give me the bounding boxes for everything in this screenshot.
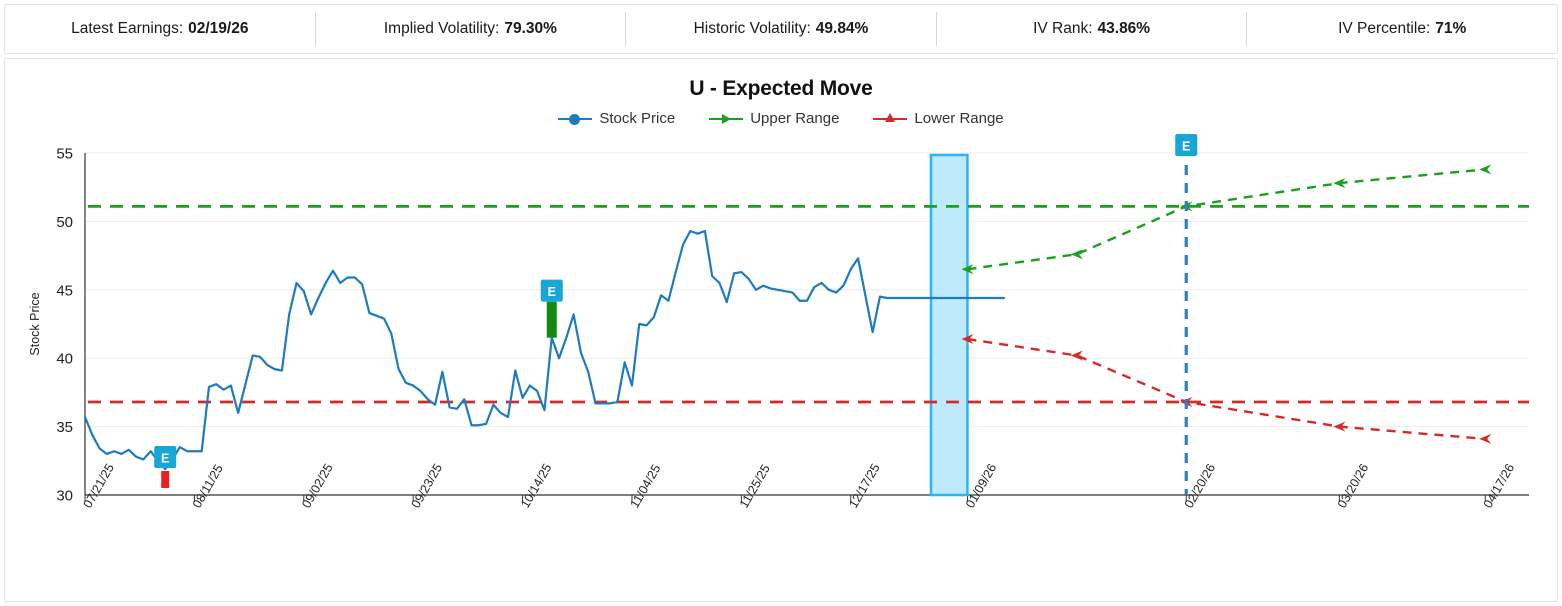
x-axis-label-9: 02/20/26 — [1182, 461, 1218, 510]
stat-implied-volatility: Implied Volatility: 79.30% — [316, 12, 627, 46]
x-axis-label-10: 03/20/26 — [1335, 461, 1371, 510]
stat-value: 79.30% — [504, 20, 557, 38]
x-axis-label-4: 10/14/25 — [518, 461, 554, 510]
earnings-marker-0[interactable]: E — [154, 446, 176, 488]
x-axis-label-5: 11/04/25 — [627, 462, 663, 510]
stat-label: Historic Volatility: — [694, 20, 811, 38]
y-axis-tick-35: 35 — [56, 419, 73, 436]
y-axis-tick-50: 50 — [56, 214, 73, 231]
x-axis-label-0: 07/21/25 — [80, 461, 116, 510]
stat-historic-volatility: Historic Volatility: 49.84% — [626, 12, 937, 46]
stat-value: 43.86% — [1098, 20, 1151, 38]
y-axis-tick-45: 45 — [56, 282, 73, 299]
stat-label: Implied Volatility: — [384, 20, 499, 38]
y-axis-tick-30: 30 — [56, 488, 73, 505]
stat-label: Latest Earnings: — [71, 20, 183, 38]
y-axis-title: Stock Price — [28, 292, 42, 355]
stat-label: IV Percentile: — [1338, 20, 1430, 38]
plot-area: 303540455055Stock Price07/21/2508/11/250… — [5, 59, 1559, 603]
stat-label: IV Rank: — [1033, 20, 1092, 38]
stats-bar: Latest Earnings: 02/19/26 Implied Volati… — [4, 4, 1558, 54]
x-axis-label-2: 09/02/25 — [299, 461, 335, 510]
earnings-marker-2[interactable]: E — [1175, 134, 1197, 495]
expected-move-screen: Latest Earnings: 02/19/26 Implied Volati… — [0, 0, 1562, 606]
x-axis-label-3: 09/23/25 — [409, 461, 445, 510]
series-marker-upper-1 — [1071, 249, 1083, 259]
stat-value: 02/19/26 — [188, 20, 248, 38]
earnings-badge-label: E — [1182, 140, 1190, 154]
y-axis-tick-40: 40 — [56, 351, 73, 368]
series-line-lower-range[interactable] — [967, 339, 1485, 439]
earnings-badge-label: E — [161, 452, 169, 466]
series-marker-upper-4 — [1479, 164, 1491, 174]
earnings-stem-red — [161, 471, 169, 488]
earnings-badge-label: E — [548, 285, 556, 299]
stat-value: 49.84% — [816, 20, 869, 38]
x-axis-label-11: 04/17/26 — [1481, 461, 1517, 510]
series-line-stock-price[interactable] — [85, 231, 1004, 469]
series-marker-lower-1 — [1071, 350, 1083, 360]
x-axis-label-6: 11/25/25 — [737, 462, 773, 510]
chart-svg[interactable]: 303540455055Stock Price07/21/2508/11/250… — [5, 59, 1559, 603]
x-axis-label-1: 08/11/25 — [190, 462, 226, 510]
series-line-upper-range[interactable] — [967, 169, 1485, 269]
stat-value: 71% — [1435, 20, 1466, 38]
stat-iv-rank: IV Rank: 43.86% — [937, 12, 1248, 46]
y-axis-tick-55: 55 — [56, 146, 73, 163]
earnings-stem-green — [547, 302, 557, 338]
series-marker-lower-4 — [1479, 434, 1491, 444]
stat-iv-percentile: IV Percentile: 71% — [1247, 12, 1557, 46]
x-axis-label-7: 12/17/25 — [846, 461, 882, 510]
stat-latest-earnings: Latest Earnings: 02/19/26 — [5, 12, 316, 46]
chart-panel: U - Expected Move Stock Price Upper Rang… — [4, 58, 1558, 602]
earnings-marker-1[interactable]: E — [541, 280, 563, 338]
